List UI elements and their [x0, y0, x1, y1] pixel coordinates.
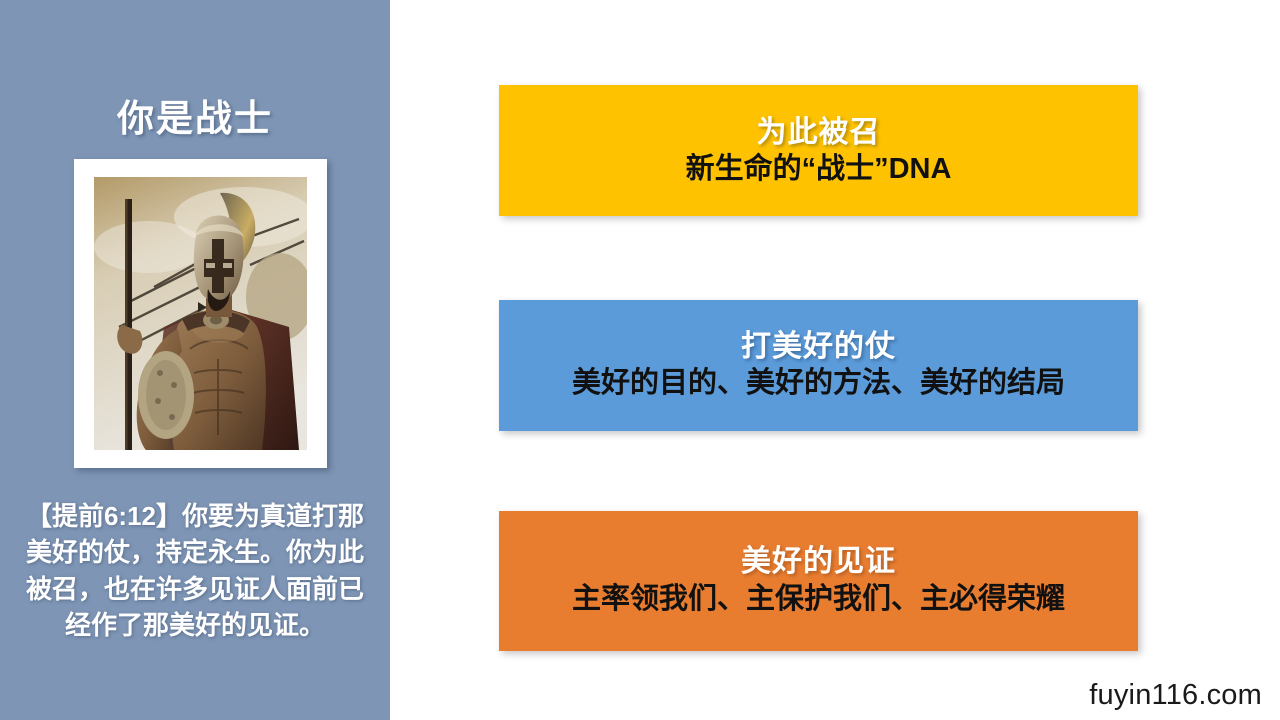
panel-subtitle: 主率领我们、主保护我们、主必得荣耀 — [572, 584, 1065, 616]
scripture-verse: 【提前6:12】你要为真道打那美好的仗，持定永生。你为此被召，也在许多见证人面前… — [14, 498, 376, 644]
panel-heading: 美好的见证 — [741, 546, 896, 578]
panel-heading: 打美好的仗 — [741, 331, 896, 363]
page-title: 你是战士 — [0, 88, 390, 142]
content-panel-fight-the-good-fight[interactable]: 打美好的仗 美好的目的、美好的方法、美好的结局 — [499, 300, 1138, 431]
panel-subtitle: 新生命的“战士”DNA — [686, 154, 952, 186]
content-panel-good-testimony[interactable]: 美好的见证 主率领我们、主保护我们、主必得荣耀 — [499, 511, 1138, 651]
site-watermark: fuyin116.com — [1089, 679, 1262, 712]
panel-heading: 为此被召 — [757, 117, 881, 149]
content-panel-called-for-this[interactable]: 为此被召 新生命的“战士”DNA — [499, 85, 1138, 216]
sidebar-panel: 你是战士 — [0, 0, 390, 720]
panel-subtitle: 美好的目的、美好的方法、美好的结局 — [572, 368, 1065, 400]
spartan-warrior-photo — [94, 177, 307, 450]
photo-frame — [74, 159, 327, 468]
slide-canvas: 你是战士 — [0, 0, 1280, 720]
